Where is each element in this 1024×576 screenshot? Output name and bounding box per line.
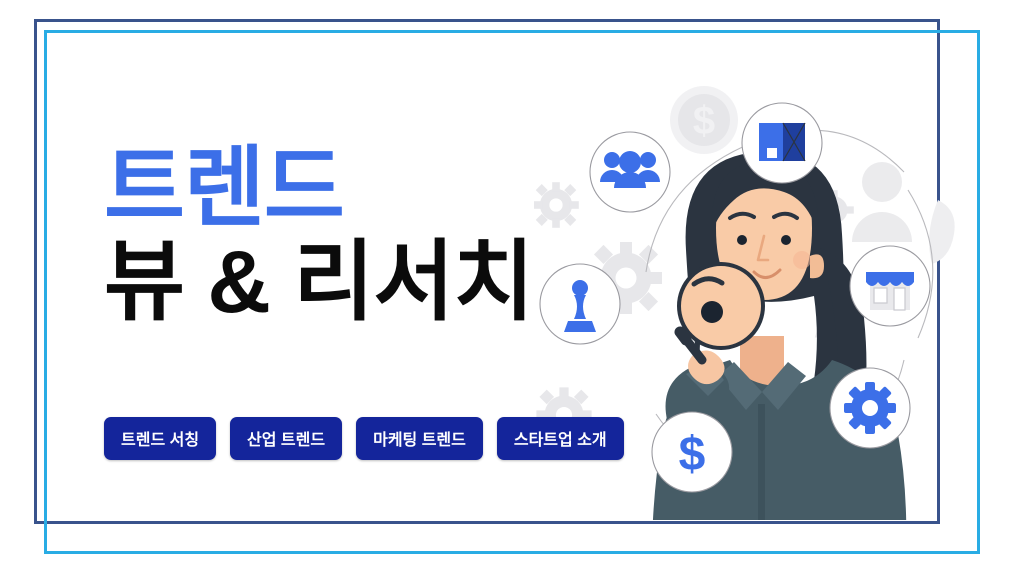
page-title: 트렌드 뷰 & 리서치: [104, 146, 664, 326]
dollar-coin-icon: $: [670, 86, 738, 154]
icon-circle-dollar: $: [652, 412, 732, 492]
chip-trend-searching[interactable]: 트렌드 서칭: [104, 417, 216, 460]
slide-root: $ $: [0, 0, 1024, 576]
icon-circle-storefront: [850, 246, 930, 326]
title-line-1: 트렌드: [104, 146, 664, 230]
icon-circle-billboard: [742, 103, 822, 183]
storefront-icon: [866, 272, 914, 310]
svg-text:$: $: [693, 99, 715, 143]
title-line-2: 뷰 & 리서치: [104, 238, 664, 326]
chip-industry-trend[interactable]: 산업 트렌드: [230, 417, 342, 460]
chip-startup-intro[interactable]: 스타트업 소개: [497, 417, 624, 460]
user-silhouette-icon: [852, 162, 912, 242]
icon-circle-gear: [830, 368, 910, 448]
chip-marketing-trend[interactable]: 마케팅 트렌드: [356, 417, 483, 460]
billboard-chart-icon: [759, 123, 805, 161]
topic-chip-group: 트렌드 서칭 산업 트렌드 마케팅 트렌드 스타트업 소개: [104, 417, 624, 460]
gear-icon: [844, 382, 896, 434]
dollar-icon: $: [679, 428, 706, 481]
